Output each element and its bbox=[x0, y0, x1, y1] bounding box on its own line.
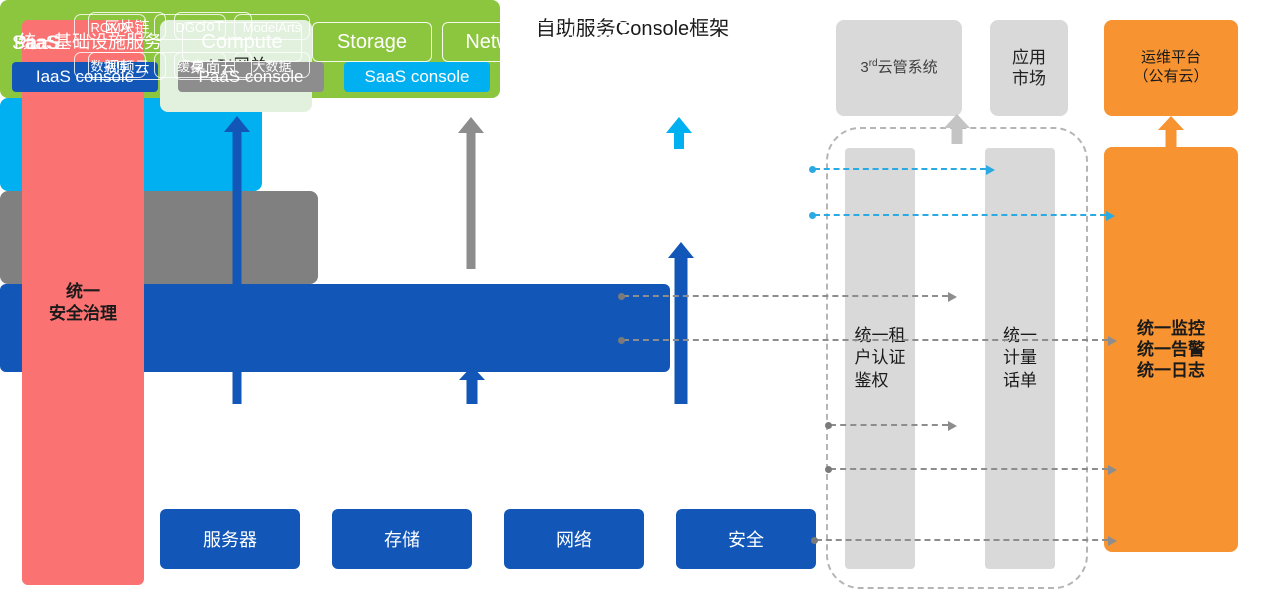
infra-chip-cce-label: CCE bbox=[592, 31, 634, 54]
infra-chip-storage[interactable]: Storage bbox=[312, 22, 432, 62]
resource-box-network-label: 网络 bbox=[556, 526, 592, 552]
ops-platform-header-label: 运维平台 （公有云） bbox=[1133, 49, 1208, 87]
infra-chip-compute-label: Compute bbox=[201, 31, 282, 54]
resource-box-storage-label: 存储 bbox=[384, 526, 420, 552]
security-label: 统一 安全治理 bbox=[49, 281, 117, 324]
third-party-suffix: 云管系统 bbox=[878, 59, 938, 76]
billing-label: 统一 计量 话单 bbox=[1003, 325, 1037, 391]
resource-box-security-label: 安全 bbox=[728, 526, 764, 552]
third-party-label: 3rd云管系统 bbox=[860, 58, 937, 78]
arrow-infra-to-paas bbox=[459, 366, 485, 404]
third-party-prefix: 3 bbox=[860, 59, 868, 76]
arrow-infra-to-api-gateway bbox=[224, 116, 250, 404]
security-label-line1: 统一 bbox=[49, 281, 117, 302]
billing-line3: 话单 bbox=[1003, 370, 1037, 392]
infra-chip-network[interactable]: Network bbox=[442, 22, 562, 62]
ops-body-line2: 统一告警 bbox=[1137, 339, 1205, 360]
third-party-superscript: rd bbox=[869, 58, 878, 69]
infra-chip-cce[interactable]: CCE bbox=[572, 22, 654, 62]
dashed-paas-to-ops bbox=[623, 339, 1108, 341]
dashed-infra-to-ops bbox=[830, 468, 1108, 470]
arrow-ops-body-to-head bbox=[1158, 116, 1184, 148]
dashed-paas-to-auth bbox=[623, 295, 948, 297]
dashed-infra-to-auth bbox=[830, 424, 948, 426]
infrastructure-label: 统一基础设施服务 bbox=[18, 28, 162, 54]
saas-console-label: SaaS console bbox=[365, 67, 470, 87]
app-market-label: 应用 市场 bbox=[1012, 47, 1046, 90]
saas-console-chip[interactable]: SaaS console bbox=[344, 62, 490, 92]
resource-box-server-label: 服务器 bbox=[203, 526, 257, 552]
resource-box-network[interactable]: 网络 bbox=[504, 509, 644, 569]
paas-chip-database-label: 数据库 bbox=[90, 56, 129, 75]
app-market-box[interactable]: 应用 市场 bbox=[990, 20, 1068, 116]
ops-body-line1: 统一监控 bbox=[1137, 318, 1205, 339]
resource-box-storage[interactable]: 存储 bbox=[332, 509, 472, 569]
resource-box-security[interactable]: 安全 bbox=[676, 509, 816, 569]
auth-line2: 户认证 bbox=[855, 347, 906, 369]
third-party-cloud-management-box[interactable]: 3rd云管系统 bbox=[836, 20, 962, 116]
app-market-line1: 应用 bbox=[1012, 47, 1046, 68]
dashed-resources-to-ops bbox=[816, 539, 1108, 541]
ops-body-line3: 统一日志 bbox=[1137, 360, 1205, 381]
auth-label: 统一租 户认证 鉴权 bbox=[855, 325, 906, 391]
ops-platform-head-line1: 运维平台 bbox=[1133, 49, 1208, 68]
billing-line2: 计量 bbox=[1003, 347, 1037, 369]
paas-chip-database[interactable]: 数据库 bbox=[74, 52, 146, 78]
auth-line1: 统一租 bbox=[855, 325, 906, 347]
unified-security-governance-column[interactable]: 统一 安全治理 bbox=[22, 20, 144, 585]
ops-platform-body-label: 统一监控 统一告警 统一日志 bbox=[1137, 318, 1205, 382]
arrow-shared-to-third-party bbox=[944, 114, 970, 144]
unified-billing-column[interactable]: 统一 计量 话单 bbox=[985, 148, 1055, 569]
ops-platform-head-line2: （公有云） bbox=[1133, 68, 1208, 87]
infra-chip-storage-label: Storage bbox=[337, 31, 407, 54]
unified-tenant-auth-column[interactable]: 统一租 户认证 鉴权 bbox=[845, 148, 915, 569]
arrow-paas-to-console bbox=[458, 117, 484, 269]
resource-box-server[interactable]: 服务器 bbox=[160, 509, 300, 569]
infra-chip-network-label: Network bbox=[465, 31, 538, 54]
dashed-saas-to-ops bbox=[814, 214, 1106, 216]
ops-platform-header-box[interactable]: 运维平台 （公有云） bbox=[1104, 20, 1238, 116]
arrow-infra-to-saas bbox=[668, 242, 694, 404]
billing-line1: 统一 bbox=[1003, 325, 1037, 347]
infra-chip-compute[interactable]: Compute bbox=[182, 22, 302, 62]
dashed-saas-to-billing bbox=[814, 168, 986, 170]
arrow-saas-to-console bbox=[666, 117, 692, 149]
architecture-diagram: 统一 安全治理 API网关 自助服务Console框架 IaaS console… bbox=[0, 0, 1265, 605]
ops-platform-body-column[interactable]: 统一监控 统一告警 统一日志 bbox=[1104, 147, 1238, 552]
app-market-line2: 市场 bbox=[1012, 68, 1046, 89]
security-label-line2: 安全治理 bbox=[49, 303, 117, 324]
auth-line3: 鉴权 bbox=[855, 370, 906, 392]
